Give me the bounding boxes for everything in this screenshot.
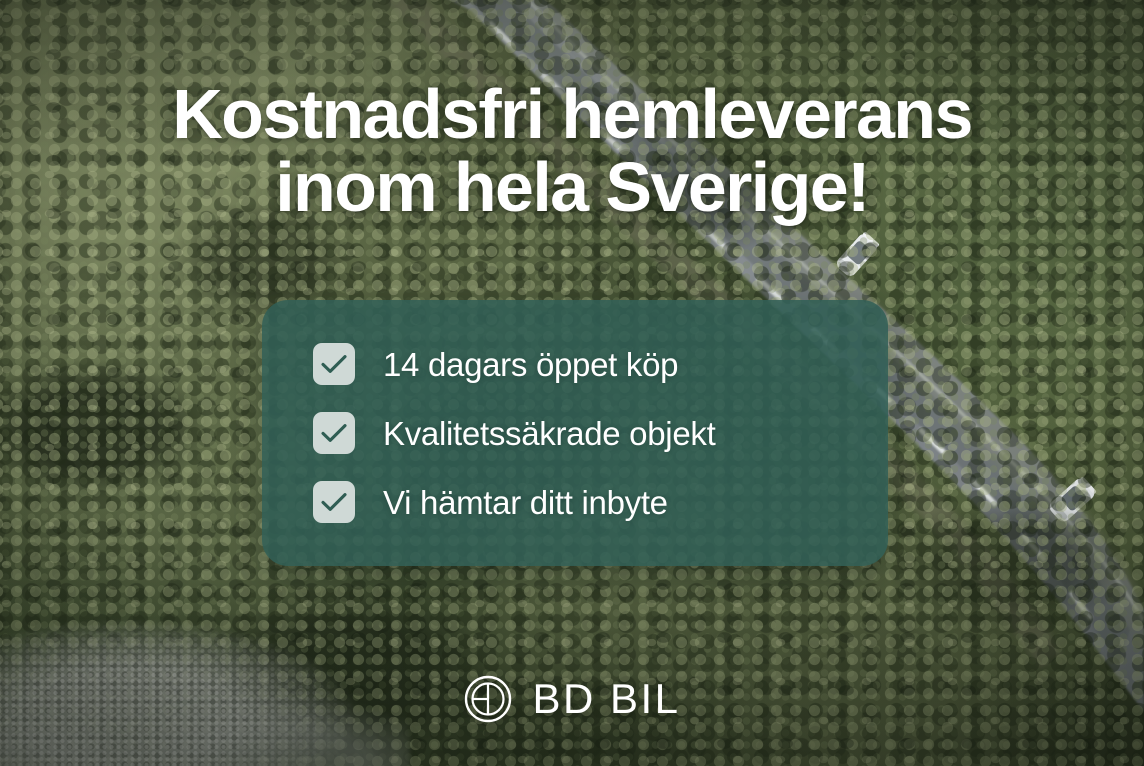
- benefit-item-1: 14 dagars öppet köp: [313, 330, 888, 399]
- checkbox-checked-icon: [313, 412, 355, 454]
- brand-name: BD BIL: [532, 678, 680, 720]
- brand-logo: BD BIL: [0, 674, 1144, 724]
- rocky-scree-texture: [0, 576, 410, 766]
- benefit-label: 14 dagars öppet köp: [383, 348, 678, 381]
- checkbox-checked-icon: [313, 343, 355, 385]
- benefit-item-2: Kvalitetssäkrade objekt: [313, 399, 888, 468]
- page-title: Kostnadsfri hemleverans inom hela Sverig…: [0, 78, 1144, 224]
- promo-banner: Kostnadsfri hemleverans inom hela Sverig…: [0, 0, 1144, 766]
- checkbox-checked-icon: [313, 481, 355, 523]
- benefits-card: 14 dagars öppet köp Kvalitetssäkrade obj…: [262, 300, 888, 566]
- bd-bil-circle-monogram-icon: [463, 674, 513, 724]
- benefit-label: Vi hämtar ditt inbyte: [383, 486, 668, 519]
- benefit-item-3: Vi hämtar ditt inbyte: [313, 468, 888, 537]
- headline-line-1: Kostnadsfri hemleverans: [40, 78, 1104, 151]
- headline-line-2: inom hela Sverige!: [40, 151, 1104, 224]
- benefit-label: Kvalitetssäkrade objekt: [383, 417, 715, 450]
